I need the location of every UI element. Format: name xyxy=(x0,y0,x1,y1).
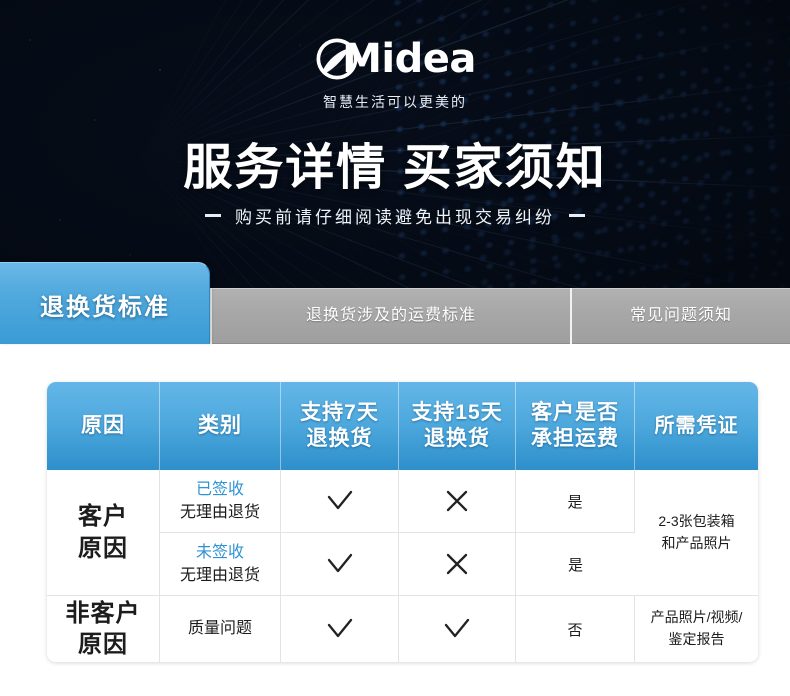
col-header-required-proof: 所需凭证 xyxy=(635,382,758,470)
cell-support-15day-yes xyxy=(399,596,516,662)
cross-icon xyxy=(440,547,474,581)
col-header-category: 类别 xyxy=(160,382,281,470)
cell-category-quality: 质量问题 xyxy=(160,596,281,662)
check-icon xyxy=(323,547,357,581)
cell-support-7day-yes xyxy=(281,470,399,533)
promo-page: Midea 智慧生活可以更美的 服务详情 买家须知 购买前请仔细阅读避免出现交易… xyxy=(0,0,790,696)
check-icon xyxy=(323,612,357,646)
col-header-support-7day: 支持7天 退换货 xyxy=(281,382,399,470)
cell-shipping-yes: 是 xyxy=(516,470,635,533)
brand-logo: Midea xyxy=(0,36,790,87)
cell-support-15day-no xyxy=(399,533,516,596)
cross-icon xyxy=(440,484,474,518)
cell-proof-packaging-photos: 2-3张包装箱 和产品照片 xyxy=(635,470,758,596)
cell-category-signed: 已签收 无理由退货 xyxy=(160,470,281,533)
table-row: 客户 原因 已签收 无理由退货 是 xyxy=(47,470,758,533)
page-subtitle: 购买前请仔细阅读避免出现交易纠纷 xyxy=(0,203,790,228)
cell-proof-product-photos: 产品照片/视频/ 鉴定报告 xyxy=(635,596,758,662)
cell-category-unsigned: 未签收 无理由退货 xyxy=(160,533,281,596)
tab-return-exchange-standards-label: 退换货标准 xyxy=(0,263,210,345)
dash-right-icon xyxy=(569,214,585,217)
brand-slogan: 智慧生活可以更美的 xyxy=(0,92,790,112)
table-row: 非客户 原因 质量问题 否 产品照片/视 xyxy=(47,596,758,662)
cell-support-15day-no xyxy=(399,470,516,533)
tab-shipping-standards[interactable]: 退换货涉及的运费标准 xyxy=(212,288,570,344)
brand-name: Midea xyxy=(342,36,476,82)
page-title: 服务详情 买家须知 xyxy=(0,128,790,199)
tab-return-exchange-standards[interactable]: 退换货标准 xyxy=(0,262,210,344)
check-icon xyxy=(440,612,474,646)
page-subtitle-text: 购买前请仔细阅读避免出现交易纠纷 xyxy=(235,203,555,228)
col-header-reason: 原因 xyxy=(47,382,160,470)
col-header-support-15day: 支持15天 退换货 xyxy=(399,382,516,470)
cell-support-7day-yes xyxy=(281,596,399,662)
cell-shipping-no: 否 xyxy=(516,596,635,662)
table-header-row: 原因 类别 支持7天 退换货 支持15天 退换货 客户是否 承担运费 xyxy=(47,382,758,470)
return-policy-table: 原因 类别 支持7天 退换货 支持15天 退换货 客户是否 承担运费 xyxy=(47,382,758,662)
check-icon xyxy=(323,484,357,518)
cell-support-7day-yes xyxy=(281,533,399,596)
cell-reason-non-customer: 非客户 原因 xyxy=(47,596,160,662)
col-header-shipping-responsibility: 客户是否 承担运费 xyxy=(516,382,635,470)
tab-faq[interactable]: 常见问题须知 xyxy=(572,288,790,344)
cell-reason-customer: 客户 原因 xyxy=(47,470,160,596)
cell-shipping-yes: 是 xyxy=(516,533,635,596)
dash-left-icon xyxy=(205,214,221,217)
tab-bar: 退换货涉及的运费标准 常见问题须知 退换货标准 xyxy=(0,288,790,344)
